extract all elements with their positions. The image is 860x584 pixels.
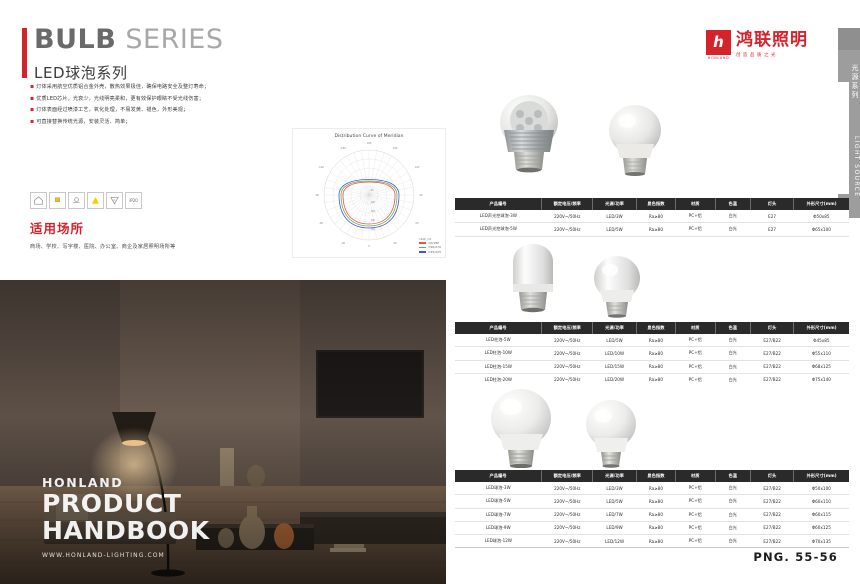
col-cri: 显色指数: [636, 198, 675, 210]
svg-text:30: 30: [393, 241, 397, 245]
cell-product-code: LED球泡-7W: [455, 508, 542, 521]
table-row: LED球泡-12W 220V~/50Hz LED/12W Ra≥80 PC+铝 …: [455, 534, 849, 547]
cell-product-code: LED柱泡-10W: [455, 347, 542, 360]
cell-material: PC+铝: [676, 334, 715, 347]
hero-line-2: HANDBOOK: [42, 517, 210, 544]
col-voltage: 额定电压/频率: [542, 198, 593, 210]
cell-base: E27/B22: [750, 482, 793, 495]
svg-text:150: 150: [393, 146, 398, 150]
brand-logo: h HONLAND 鸿联照明 创造品质之光: [706, 30, 808, 60]
cell-cri: Ra≥80: [636, 534, 675, 547]
svg-text:-60: -60: [319, 221, 323, 225]
cell-cri: Ra≥80: [636, 360, 675, 373]
cell-voltage: 220V~/50Hz: [542, 334, 593, 347]
cell-material: PC+铝: [676, 360, 715, 373]
cell-base: E27: [750, 210, 793, 223]
legend-swatch: [419, 251, 426, 252]
cell-dimensions: Φ68x125: [794, 360, 849, 373]
cell-base: E27/B22: [750, 373, 793, 386]
chart-legend: Unit: cd C0/180 C90/270 C45/225: [419, 237, 441, 254]
bullet-dot-icon: ▪: [30, 106, 34, 113]
cell-material: PC+铝: [676, 495, 715, 508]
table-row: LED球泡-9W 220V~/50Hz LED/9W Ra≥80 PC+铝 白光…: [455, 521, 849, 534]
cell-cri: Ra≥80: [636, 223, 675, 236]
col-source-power: 光源/功率: [593, 322, 636, 334]
cell-product-code: LED球泡-5W: [455, 495, 542, 508]
cell-voltage: 220V~/50Hz: [542, 508, 593, 521]
cell-source-power: LED/3W: [593, 482, 636, 495]
feature-item: ▪灯体采用航空优质铝合金外壳，散热效果极佳，确保电路安全及整灯寿命；: [30, 84, 290, 90]
product-photo-globe-bulb: [455, 386, 849, 468]
table-row: LED球泡-5W 220V~/50Hz LED/5W Ra≥80 PC+铝 白光…: [455, 495, 849, 508]
cell-base: E27/B22: [750, 534, 793, 547]
col-color-temp: 色温: [715, 198, 750, 210]
col-product-code: 产品编号: [455, 322, 542, 334]
col-material: 材质: [676, 198, 715, 210]
places-title: 适用场所: [30, 218, 175, 237]
legend-swatch: [419, 247, 426, 248]
cell-material: PC+铝: [676, 482, 715, 495]
table-row: LED柱泡-20W 220V~/50Hz LED/20W Ra≥80 PC+铝 …: [455, 373, 849, 386]
cell-source-power: LED/7W: [593, 508, 636, 521]
svg-text:200: 200: [371, 218, 376, 222]
cell-dimensions: Φ60x115: [794, 508, 849, 521]
cell-base: E27: [750, 223, 793, 236]
applicable-places: 适用场所 商场、学校、写字楼、医院、办公室、商企及家居照明场所等: [30, 218, 175, 250]
col-voltage: 额定电压/频率: [542, 470, 593, 482]
cell-base: E27/B22: [750, 521, 793, 534]
cell-material: PC+铝: [676, 521, 715, 534]
title-bold: BULB: [34, 24, 116, 55]
product-photo-sensor-bulb: [455, 82, 849, 194]
cell-color-temp: 白光: [715, 334, 750, 347]
sensor-bulb-illustration: [455, 82, 849, 194]
cell-cri: Ra≥80: [636, 495, 675, 508]
cell-cri: Ra≥80: [636, 521, 675, 534]
cell-product-code: LED球泡-12W: [455, 534, 542, 547]
cell-color-temp: 白光: [715, 508, 750, 521]
cell-material: PC+铝: [676, 210, 715, 223]
col-dimensions: 外形尺寸(mm): [794, 470, 849, 482]
cell-source-power: LED/15W: [593, 360, 636, 373]
svg-text:-30: -30: [341, 241, 345, 245]
col-dimensions: 外形尺寸(mm): [794, 198, 849, 210]
cell-cri: Ra≥80: [636, 347, 675, 360]
places-description: 商场、学校、写字楼、医院、办公室、商企及家居照明场所等: [30, 243, 175, 250]
cell-cri: Ra≥80: [636, 334, 675, 347]
hero-caption: HONLAND PRODUCT HANDBOOK WWW.HONLAND-LIG…: [42, 475, 210, 559]
svg-text:-90: -90: [315, 193, 319, 197]
product-photo-column-bulb: [455, 240, 849, 318]
feature-text: 优质LED芯片，光衰少，光线明亮柔和，更有效保护眼睛不受光线伤害；: [36, 96, 204, 102]
column-bulb-illustration: [455, 240, 849, 318]
cell-base: E27/B22: [750, 508, 793, 521]
cell-color-temp: 白光: [715, 521, 750, 534]
svg-text:-150: -150: [340, 146, 346, 150]
cell-base: E27/B22: [750, 360, 793, 373]
feature-text: 灯体采用航空优质铝合金外壳，散热效果极佳，确保电路安全及整灯寿命；: [36, 84, 209, 90]
cell-voltage: 220V~/50Hz: [542, 210, 593, 223]
col-base: 灯头: [750, 470, 793, 482]
hero-line-1: PRODUCT: [42, 490, 210, 517]
cell-dimensions: Φ65x100: [794, 223, 849, 236]
cell-base: E27/B22: [750, 334, 793, 347]
feature-item: ▪优质LED芯片，光衰少，光线明亮柔和，更有效保护眼睛不受光线伤害；: [30, 96, 290, 102]
logo-mark-icon: h: [706, 30, 731, 55]
svg-text:-120: -120: [318, 165, 324, 169]
distribution-curve-chart: Distribution Curve of Meridian: [292, 128, 446, 258]
ip-rating-label: IP20: [129, 198, 137, 203]
svg-text:60: 60: [415, 221, 419, 225]
eye-comfort-icon: [68, 192, 85, 209]
cell-dimensions: Φ55x110: [794, 347, 849, 360]
table-row: LED声光控球泡-3W 220V~/50Hz LED/3W Ra≥80 PC+铝…: [455, 210, 849, 223]
chip-icon: [49, 192, 66, 209]
bullet-dot-icon: ▪: [30, 83, 34, 90]
cell-material: PC+铝: [676, 223, 715, 236]
cell-product-code: LED声光控球泡-5W: [455, 223, 542, 236]
table-row: LED球泡-3W 220V~/50Hz LED/3W Ra≥80 PC+铝 白光…: [455, 482, 849, 495]
logo-en-text: HONLAND: [708, 56, 729, 60]
feature-item: ▪灯体表面经过喷漆工艺，氧化处理，不易发黄、褪色，外形美观；: [30, 107, 290, 113]
cell-material: PC+铝: [676, 508, 715, 521]
house-icon: [30, 192, 47, 209]
table-row: LED柱泡-5W 220V~/50Hz LED/5W Ra≥80 PC+铝 白光…: [455, 334, 849, 347]
cell-source-power: LED/3W: [593, 210, 636, 223]
col-product-code: 产品编号: [455, 470, 542, 482]
col-base: 灯头: [750, 198, 793, 210]
cell-voltage: 220V~/50Hz: [542, 534, 593, 547]
col-source-power: 光源/功率: [593, 470, 636, 482]
cell-dimensions: Φ60x125: [794, 521, 849, 534]
col-source-power: 光源/功率: [593, 198, 636, 210]
legend-label: C45/225: [428, 250, 441, 254]
cell-source-power: LED/10W: [593, 347, 636, 360]
cell-product-code: LED柱泡-15W: [455, 360, 542, 373]
cell-voltage: 220V~/50Hz: [542, 482, 593, 495]
page-number: PNG. 55-56: [753, 550, 838, 564]
globe-bulb-illustration: [455, 386, 849, 468]
cell-base: E27/B22: [750, 495, 793, 508]
cell-base: E27/B22: [750, 347, 793, 360]
cell-cri: Ra≥80: [636, 482, 675, 495]
page-title: BULB SERIES LED球泡系列: [34, 26, 224, 83]
cell-source-power: LED/5W: [593, 334, 636, 347]
red-accent-bar: [22, 28, 27, 78]
col-color-temp: 色温: [715, 322, 750, 334]
cell-source-power: LED/5W: [593, 495, 636, 508]
cell-source-power: LED/20W: [593, 373, 636, 386]
cell-source-power: LED/12W: [593, 534, 636, 547]
cell-dimensions: Φ60x110: [794, 495, 849, 508]
cell-source-power: LED/5W: [593, 223, 636, 236]
col-color-temp: 色温: [715, 470, 750, 482]
cell-color-temp: 白光: [715, 210, 750, 223]
legend-item: C45/225: [419, 250, 441, 254]
section-tab-top: [838, 28, 860, 50]
page-subtitle: LED球泡系列: [34, 62, 224, 83]
cell-product-code: LED柱泡-20W: [455, 373, 542, 386]
cell-product-code: LED声光控球泡-3W: [455, 210, 542, 223]
cell-material: PC+铝: [676, 373, 715, 386]
table-row: LED声光控球泡-5W 220V~/50Hz LED/5W Ra≥80 PC+铝…: [455, 223, 849, 236]
cell-cri: Ra≥80: [636, 508, 675, 521]
cell-product-code: LED柱泡-5W: [455, 334, 542, 347]
svg-text:0: 0: [368, 244, 370, 248]
col-base: 灯头: [750, 322, 793, 334]
col-material: 材质: [676, 322, 715, 334]
svg-text:250: 250: [371, 227, 376, 231]
cell-color-temp: 白光: [715, 223, 750, 236]
catalog-page: BULB SERIES LED球泡系列 ▪灯体采用航空优质铝合金外壳，散热效果极…: [0, 0, 860, 584]
table-row: LED球泡-7W 220V~/50Hz LED/7W Ra≥80 PC+铝 白光…: [455, 508, 849, 521]
feature-icon-row: F IP20: [30, 192, 142, 209]
logo-cn-text: 鸿联照明: [736, 32, 808, 49]
cell-voltage: 220V~/50Hz: [542, 373, 593, 386]
svg-text:120: 120: [415, 165, 420, 169]
col-material: 材质: [676, 470, 715, 482]
cell-material: PC+铝: [676, 534, 715, 547]
cell-color-temp: 白光: [715, 495, 750, 508]
cell-color-temp: 白光: [715, 347, 750, 360]
f-mark-icon: F: [106, 192, 123, 209]
table-header-row: 产品编号 额定电压/频率 光源/功率 显色指数 材质 色温 灯头 外形尺寸(mm…: [455, 198, 849, 210]
feature-text: 可直接替换传统光源，安装灵活、简单；: [36, 119, 130, 125]
cell-dimensions: Φ45x85: [794, 334, 849, 347]
svg-text:F: F: [114, 198, 116, 202]
cell-dimensions: Φ50x100: [794, 482, 849, 495]
ip-rating-icon: IP20: [125, 192, 142, 209]
col-cri: 显色指数: [636, 470, 675, 482]
beam-icon: [87, 192, 104, 209]
cell-color-temp: 白光: [715, 482, 750, 495]
cell-voltage: 220V~/50Hz: [542, 360, 593, 373]
cell-product-code: LED球泡-9W: [455, 521, 542, 534]
col-cri: 显色指数: [636, 322, 675, 334]
cell-voltage: 220V~/50Hz: [542, 347, 593, 360]
col-voltage: 额定电压/频率: [542, 322, 593, 334]
table-header-row: 产品编号 额定电压/频率 光源/功率 显色指数 材质 色温 灯头 外形尺寸(mm…: [455, 322, 849, 334]
product-table-globe-bulb: 产品编号 额定电压/频率 光源/功率 显色指数 材质 色温 灯头 外形尺寸(mm…: [455, 470, 849, 548]
hero-url: WWW.HONLAND-LIGHTING.COM: [42, 552, 210, 559]
hero-brand: HONLAND: [42, 475, 210, 490]
cell-cri: Ra≥80: [636, 373, 675, 386]
table-row: LED柱泡-10W 220V~/50Hz LED/10W Ra≥80 PC+铝 …: [455, 347, 849, 360]
col-dimensions: 外形尺寸(mm): [794, 322, 849, 334]
chart-title: Distribution Curve of Meridian: [293, 134, 445, 139]
cell-dimensions: Φ50x85: [794, 210, 849, 223]
cell-cri: Ra≥80: [636, 210, 675, 223]
cell-source-power: LED/9W: [593, 521, 636, 534]
cell-color-temp: 白光: [715, 534, 750, 547]
cell-color-temp: 白光: [715, 360, 750, 373]
feature-item: ▪可直接替换传统光源，安装灵活、简单；: [30, 119, 290, 125]
cell-product-code: LED球泡-3W: [455, 482, 542, 495]
cell-dimensions: Φ75x140: [794, 373, 849, 386]
table-header-row: 产品编号 额定电压/频率 光源/功率 显色指数 材质 色温 灯头 外形尺寸(mm…: [455, 470, 849, 482]
cell-voltage: 220V~/50Hz: [542, 495, 593, 508]
svg-text:180: 180: [367, 141, 372, 145]
interior-photo: HONLAND PRODUCT HANDBOOK WWW.HONLAND-LIG…: [0, 280, 446, 584]
cell-dimensions: Φ70x135: [794, 534, 849, 547]
feature-text: 灯体表面经过喷漆工艺，氧化处理，不易发黄、褪色，外形美观；: [36, 107, 188, 113]
feature-list: ▪灯体采用航空优质铝合金外壳，散热效果极佳，确保电路安全及整灯寿命； ▪优质LE…: [30, 84, 290, 131]
cell-material: PC+铝: [676, 347, 715, 360]
bullet-dot-icon: ▪: [30, 95, 34, 102]
col-product-code: 产品编号: [455, 198, 542, 210]
cell-voltage: 220V~/50Hz: [542, 521, 593, 534]
svg-text:100: 100: [371, 200, 376, 204]
bullet-dot-icon: ▪: [30, 118, 34, 125]
cell-voltage: 220V~/50Hz: [542, 223, 593, 236]
cell-color-temp: 白光: [715, 373, 750, 386]
svg-text:150: 150: [371, 209, 376, 213]
legend-swatch: [419, 242, 426, 243]
svg-text:90: 90: [419, 193, 423, 197]
title-light: SERIES: [116, 24, 223, 55]
table-row: LED柱泡-15W 220V~/50Hz LED/15W Ra≥80 PC+铝 …: [455, 360, 849, 373]
logo-tagline: 创造品质之光: [736, 52, 808, 58]
